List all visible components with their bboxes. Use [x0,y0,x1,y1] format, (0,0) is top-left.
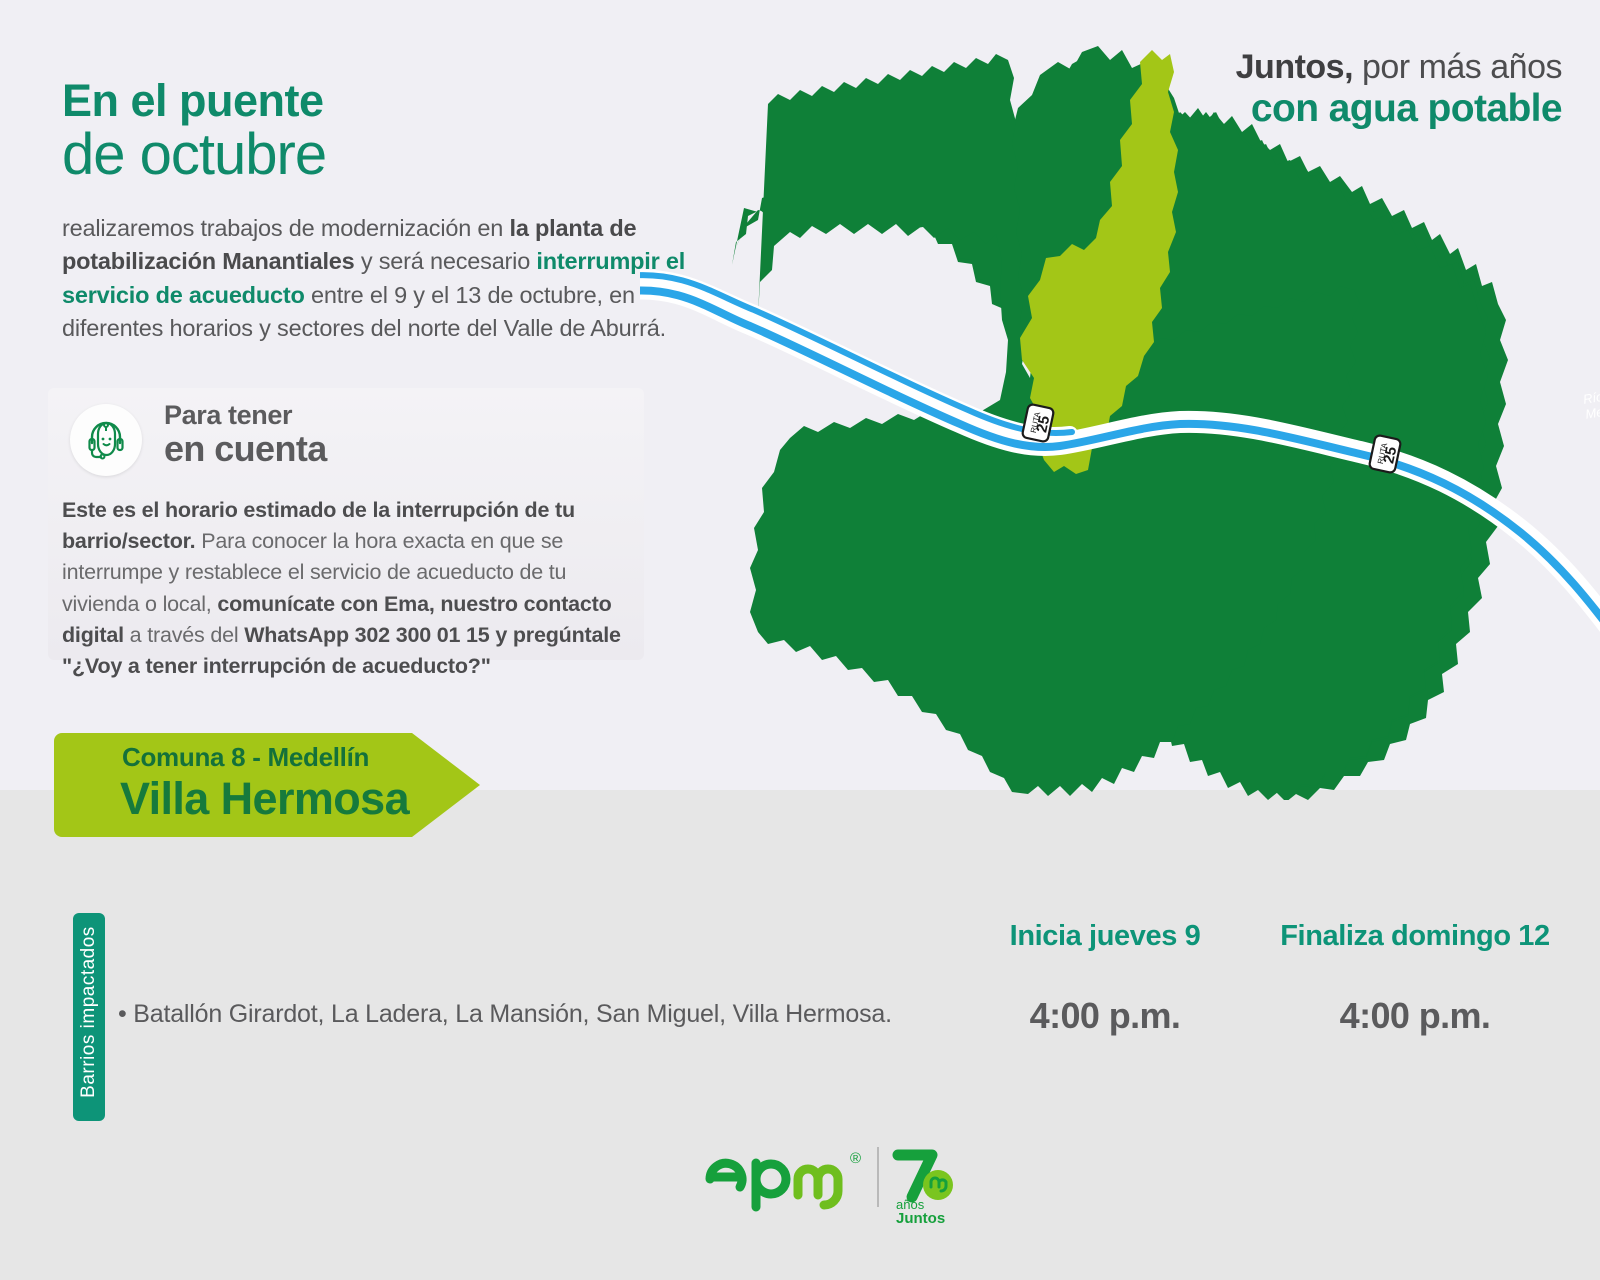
svg-text:25: 25 [1033,414,1053,434]
note-title-small: Para tener [164,402,327,429]
svg-text:25: 25 [1380,445,1400,465]
right-headline-line1: Juntos, por más años [1236,48,1562,87]
main-headline: En el puente de octubre [62,78,722,186]
registered-mark: ® [850,1150,861,1167]
comuna-banner-subtitle: Comuna 8 - Medellín [122,742,369,773]
lead-text-2: y será necesario [355,248,537,274]
lead-text-1: realizaremos trabajos de modernización e… [62,215,509,241]
infographic-root: RUTA 25 RUTA 25 Comuna 8 Villa Hermosa R… [0,0,1600,1280]
note-title: Para tener en cuenta [164,402,327,469]
schedule-end-time: 4:00 p.m. [1260,995,1570,1037]
note-title-big: en cuenta [164,429,327,469]
right-headline-rest: por más años [1353,48,1562,86]
lead-paragraph: realizaremos trabajos de modernización e… [62,212,687,345]
epm-logo-svg: ® años Juntos [700,1133,960,1225]
headline-line1: En el puente [62,78,722,123]
right-headline-line2: con agua potable [1236,87,1562,131]
comuna-banner-title: Villa Hermosa [120,773,409,825]
schedule-end: Finaliza domingo 12 4:00 p.m. [1260,920,1570,1037]
comuna-banner: Comuna 8 - Medellín Villa Hermosa [52,725,482,845]
schedule-start: Inicia jueves 9 4:00 p.m. [950,920,1260,1037]
right-headline-bold: Juntos, [1236,48,1353,86]
note-body: Este es el horario estimado de la interr… [62,495,642,682]
support-agent-icon [70,404,142,476]
medellin-map: RUTA 25 RUTA 25 Comuna 8 Villa Hermosa R… [640,20,1600,800]
epm-logo: ® años Juntos [700,1133,960,1225]
juntos-label: Juntos [896,1210,945,1225]
schedule-start-label: Inicia jueves 9 [950,920,1260,953]
barrios-tab: Barrios impactados [73,913,105,1121]
schedule: Inicia jueves 9 4:00 p.m. Finaliza domin… [950,920,1570,1037]
support-agent-glyph [83,417,129,463]
schedule-start-time: 4:00 p.m. [950,995,1260,1037]
barrios-list: • Batallón Girardot, La Ladera, La Mansi… [118,1000,938,1029]
schedule-end-label: Finaliza domingo 12 [1260,920,1570,953]
note-text-2: a través del [124,623,244,647]
map-svg: RUTA 25 RUTA 25 [640,20,1600,800]
headline-line2: de octubre [62,125,722,186]
barrios-tab-label: Barrios impactados [78,908,100,1116]
right-headline: Juntos, por más años con agua potable [1236,48,1562,131]
